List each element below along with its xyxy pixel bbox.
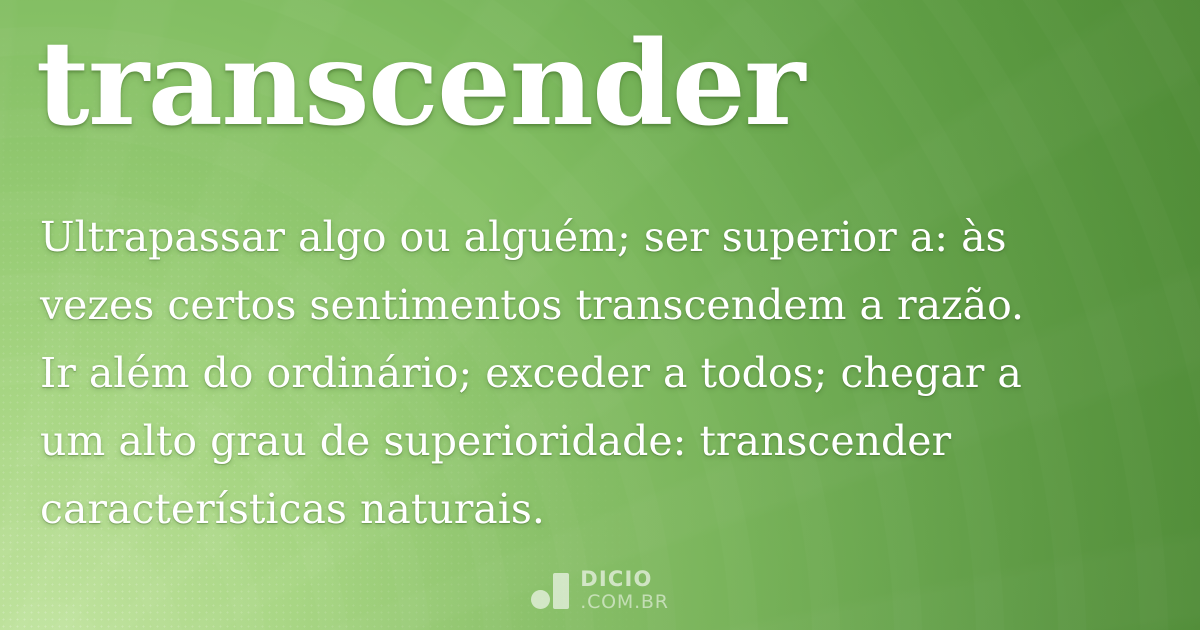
definition-line: vezes certos sentimentos transcendem a r… bbox=[40, 271, 1160, 339]
brand-name: DICIO bbox=[580, 569, 669, 590]
card-content: transcender Ultrapassar algo ou alguém; … bbox=[0, 0, 1200, 630]
brand-tld: .COM.BR bbox=[580, 593, 669, 612]
brand-wordmark: DICIO .COM.BR bbox=[580, 569, 669, 612]
logo-circle-shape bbox=[531, 590, 550, 609]
dicio-logo-mark-icon bbox=[531, 570, 569, 610]
headword-title: transcender bbox=[36, 24, 1166, 146]
definition-line: características naturais. bbox=[40, 475, 1160, 543]
definition-text: Ultrapassar algo ou alguém; ser superior… bbox=[40, 203, 1160, 543]
definition-line: um alto grau de superioridade: transcend… bbox=[40, 407, 1160, 475]
definition-line: Ir além do ordinário; exceder a todos; c… bbox=[40, 339, 1160, 407]
brand-logo: DICIO .COM.BR bbox=[0, 564, 1200, 616]
definition-line: Ultrapassar algo ou alguém; ser superior… bbox=[40, 203, 1160, 271]
logo-bar-shape bbox=[553, 573, 569, 609]
definition-card: transcender Ultrapassar algo ou alguém; … bbox=[0, 0, 1200, 630]
